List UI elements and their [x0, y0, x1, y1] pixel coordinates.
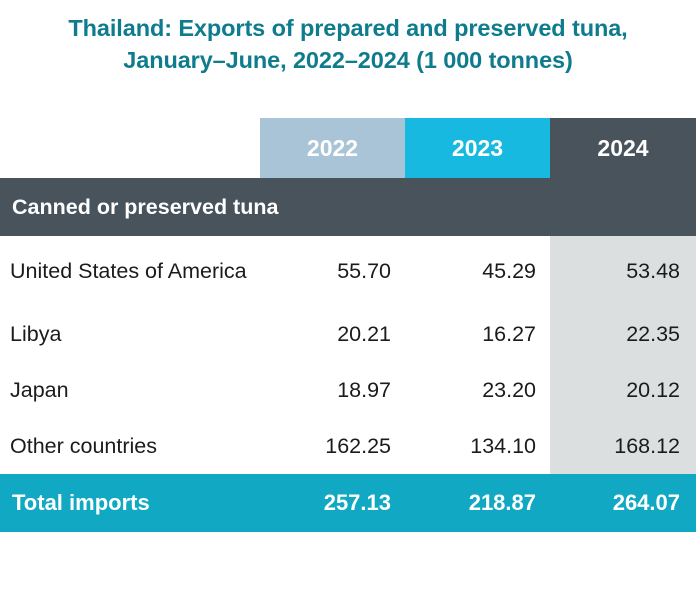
row-value-2022: 18.97 [260, 362, 405, 418]
column-header-2023: 2023 [405, 118, 550, 178]
table-header-row: 2022 2023 2024 [0, 118, 696, 178]
table-row: United States of America 55.70 45.29 53.… [0, 236, 696, 306]
table-row: Other countries 162.25 134.10 168.12 [0, 418, 696, 474]
row-label: United States of America [0, 236, 260, 306]
row-value-2022: 162.25 [260, 418, 405, 474]
row-value-2024: 168.12 [550, 418, 696, 474]
total-row: Total imports 257.13 218.87 264.07 [0, 474, 696, 532]
section-label: Canned or preserved tuna [0, 178, 696, 236]
figure-title: Thailand: Exports of prepared and preser… [0, 0, 696, 76]
row-value-2022: 20.21 [260, 306, 405, 362]
row-label: Japan [0, 362, 260, 418]
table-figure: Thailand: Exports of prepared and preser… [0, 0, 696, 602]
row-value-2023: 134.10 [405, 418, 550, 474]
row-value-2023: 16.27 [405, 306, 550, 362]
total-value-2024: 264.07 [550, 474, 696, 532]
row-label: Other countries [0, 418, 260, 474]
column-header-2022: 2022 [260, 118, 405, 178]
title-line-1: Thailand: Exports of prepared and preser… [8, 12, 688, 44]
header-corner-cell [0, 118, 260, 178]
row-value-2023: 23.20 [405, 362, 550, 418]
row-value-2024: 53.48 [550, 236, 696, 306]
row-value-2023: 45.29 [405, 236, 550, 306]
column-header-2024: 2024 [550, 118, 696, 178]
table-row: Libya 20.21 16.27 22.35 [0, 306, 696, 362]
total-value-2023: 218.87 [405, 474, 550, 532]
total-label: Total imports [0, 474, 260, 532]
title-line-2: January–June, 2022–2024 (1 000 tonnes) [8, 44, 688, 76]
row-value-2024: 20.12 [550, 362, 696, 418]
exports-table: 2022 2023 2024 Canned or preserved tuna … [0, 118, 696, 532]
table-row: Japan 18.97 23.20 20.12 [0, 362, 696, 418]
row-value-2024: 22.35 [550, 306, 696, 362]
section-header-row: Canned or preserved tuna [0, 178, 696, 236]
total-value-2022: 257.13 [260, 474, 405, 532]
row-label: Libya [0, 306, 260, 362]
row-value-2022: 55.70 [260, 236, 405, 306]
